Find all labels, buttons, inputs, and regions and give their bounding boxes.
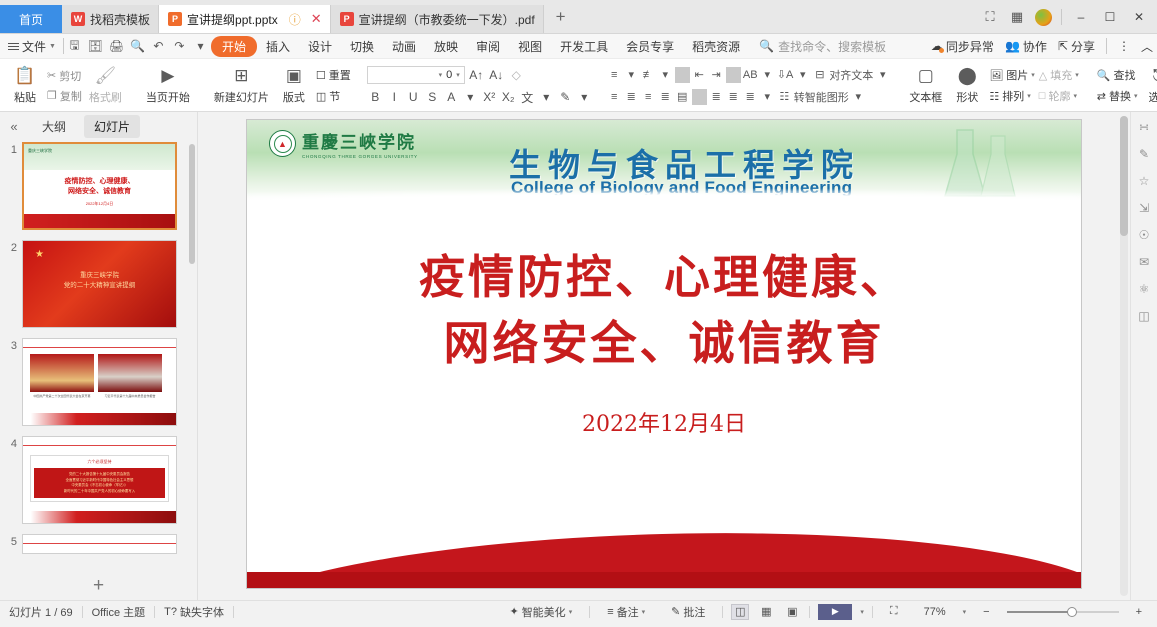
fill-button[interactable]: △ 填充 ▾	[1037, 67, 1081, 83]
right-sidebar: ∺ ✎ ☆ ⇲ ☉ ✉ ⚛ ◫	[1130, 112, 1157, 600]
wps-docer-icon: W	[71, 12, 85, 26]
ribbon-group-editing: 🔍 查找 ⇄ 替换 ▾ ⎋ 选择	[1090, 59, 1157, 112]
replace-label: 替换	[1109, 88, 1131, 104]
slide-header-banner: ▲ 重慶三峽学院 CHONGQING THREE GORGES UNIVERSI…	[247, 120, 1081, 202]
pdf-file-icon: P	[340, 12, 354, 26]
outline-icon: □	[1039, 90, 1046, 102]
divider	[872, 606, 873, 618]
tab-outline[interactable]: 大纲	[32, 115, 76, 138]
thumbnail-slide-5[interactable]	[22, 534, 177, 554]
clipboard-secondary: ✂ 剪切 ❐ 复制	[45, 61, 84, 110]
reset-label: 重置	[329, 67, 351, 83]
menu-bar: 文件 ▼ 🖫 🗄 🖨 🔍 ↶ ↷ ▾ 开始 插入 设计 切换 动画 放映 审阅 …	[0, 34, 1157, 59]
new-tab-button[interactable]: +	[544, 3, 578, 33]
strikethrough-button[interactable]: S	[424, 90, 441, 104]
divider	[692, 89, 707, 105]
connector-icon[interactable]: ∺	[1139, 120, 1149, 134]
thumb-footer-band	[24, 214, 175, 228]
thumbnail-number: 3	[0, 338, 22, 352]
arrange-label: 排列	[1002, 88, 1024, 104]
char-border-button[interactable]: A	[443, 90, 460, 104]
layout-icon: ▣	[286, 66, 302, 86]
zoom-fill	[1007, 611, 1073, 613]
zoom-track[interactable]	[1007, 611, 1119, 613]
logo-emblem-icon: ▲	[269, 130, 296, 157]
copy-icon: ❐	[47, 89, 57, 102]
close-window-icon[interactable]: ✕	[1129, 10, 1149, 24]
collapse-ribbon-icon[interactable]: ︿	[1141, 38, 1153, 55]
thumbnail-slide-4[interactable]: 六个必须坚持 党的二十大报告第十九届中央委员会报告 全面贯彻习近平新时代中国特色…	[22, 436, 177, 524]
tab-slides[interactable]: 幻灯片	[84, 115, 140, 138]
thumb-heading: 六个必须坚持	[34, 459, 165, 465]
divider	[1061, 9, 1062, 25]
status-bar: 幻灯片 1 / 69 Office 主题 T? 缺失字体 ✦ 智能美化 ▾ ≡ …	[0, 600, 1157, 622]
missing-font-button[interactable]: T? 缺失字体	[155, 604, 233, 620]
more-options-icon[interactable]: ⋮	[1118, 39, 1130, 53]
chevron-down-icon[interactable]: ▾	[462, 90, 479, 104]
print-preview-icon[interactable]: 🔍	[127, 39, 148, 53]
comments-label: 批注	[683, 604, 705, 620]
replace-button[interactable]: ⇄ 替换 ▾	[1095, 88, 1140, 104]
search-placeholder: 查找命令、搜索模板	[778, 38, 886, 55]
format-painter-label: 格式刷	[89, 89, 122, 105]
dual-screen-icon[interactable]: ⛶	[981, 9, 999, 25]
align-text-label[interactable]: 对齐文本	[829, 67, 873, 83]
thumb-footer-band	[23, 511, 176, 523]
thumbnail-number: 1	[0, 142, 22, 156]
shapes-label: 形状	[956, 89, 978, 105]
ribbon-tab-design[interactable]: 设计	[299, 36, 341, 57]
thumb-top-bar	[23, 339, 176, 348]
list-item[interactable]: 1 重庆三峡学院 疫情防控、心理健康、 网络安全、诚信教育 2022年12月4日	[0, 142, 197, 230]
notes-icon: ≡	[607, 606, 613, 618]
distribute-button[interactable]: ▤	[675, 90, 690, 103]
current-slide-canvas[interactable]: ▲ 重慶三峽学院 CHONGQING THREE GORGES UNIVERSI…	[246, 119, 1082, 589]
save-as-icon[interactable]: 🗄	[85, 39, 106, 53]
slides-secondary: ☐ 重置 ◫ 节	[314, 61, 353, 110]
thumb-list-item: 新时代的二十年中国共产党人的初心使命要写入	[37, 489, 162, 495]
line-spacing-1-button[interactable]: ≣	[709, 90, 724, 103]
smart-art-label[interactable]: 转智能图形	[794, 89, 849, 105]
text-direction-button[interactable]: AB	[743, 69, 758, 81]
ribbon-group-drawing: ▢ 文本框 ⬤ 形状 🖼 图片 ▾ ☷ 排列 ▾ △ 填充 ▾	[899, 59, 1085, 112]
picture-button[interactable]: 🖼 图片 ▾	[987, 67, 1036, 83]
superscript-button[interactable]: X²	[481, 90, 498, 104]
shrink-font-icon[interactable]: A↓	[488, 68, 505, 82]
thumb-title-line1: 疫情防控、心理健康、	[24, 177, 175, 187]
ribbon-tab-member[interactable]: 会员专享	[617, 36, 683, 57]
warning-icon[interactable]: ⓘ	[289, 11, 301, 28]
divider	[1106, 38, 1107, 54]
user-avatar[interactable]	[1035, 9, 1052, 26]
line-spacing-2-button[interactable]: ≣	[726, 90, 741, 103]
chevron-down-icon[interactable]: ▾	[538, 90, 555, 104]
chevron-down-icon[interactable]: ▾	[851, 90, 866, 103]
zoom-in-button[interactable]: +	[1127, 606, 1151, 618]
decrease-indent-button[interactable]: ⇤	[692, 68, 707, 81]
find-button[interactable]: 🔍 查找	[1095, 67, 1140, 83]
ribbon-tab-slideshow[interactable]: 放映	[425, 36, 467, 57]
paragraph-row-top: ≡ ▾ ≢ ▾ ⇤ ⇥ AB ▾ ⇩A ▾ ⊟ 对齐文本 ▾	[607, 67, 891, 83]
chevron-down-icon: ▾	[1027, 92, 1031, 100]
thumbnail-number: 4	[0, 436, 22, 450]
chevron-down-icon[interactable]: ▾	[795, 68, 810, 81]
tab-pdf-document[interactable]: P 宣讲提纲（市教委统一下发）.pdf	[331, 5, 544, 33]
bullets-button[interactable]: ≡	[607, 69, 622, 81]
search-icon: 🔍	[759, 39, 774, 53]
tab-presentation-pptx[interactable]: P 宣讲提纲ppt.pptx ⓘ ✕	[159, 5, 331, 33]
slide-footer-decoration	[247, 528, 1081, 588]
font-size-value: 0	[446, 69, 452, 81]
clear-format-icon[interactable]: ◇	[508, 68, 525, 82]
section-button[interactable]: ◫ 节	[314, 88, 353, 104]
paintbrush-icon: 🖌	[95, 66, 117, 86]
thumbnail-slide-1[interactable]: 重庆三峡学院 疫情防控、心理健康、 网络安全、诚信教育 2022年12月4日	[22, 142, 177, 230]
thumbnail-scrollbar[interactable]	[189, 144, 195, 264]
chevron-down-icon: ▼	[49, 43, 56, 50]
divider	[809, 606, 810, 618]
view-slide-sorter-button[interactable]: ▦	[757, 604, 775, 620]
clipboard-icon: 📋	[14, 66, 35, 86]
university-name-cn: 重慶三峽学院	[302, 128, 418, 153]
scissors-icon: ✂	[47, 69, 56, 82]
justify-button[interactable]: ≣	[658, 90, 673, 103]
browser-tab-bar: 首页 W 找稻壳模板 P 宣讲提纲ppt.pptx ⓘ ✕ P 宣讲提纲（市教委…	[0, 0, 1157, 34]
section-label: 节	[329, 88, 340, 104]
status-right-controls: ✦ 智能美化 ▾ ≡ 备注 ▾ ✎ 批注 ◫ ▦ ▣ ▶ ▾ ⛶ 77% ▾ −	[500, 604, 1151, 620]
chevron-down-icon[interactable]: ▾	[860, 608, 864, 616]
reset-button[interactable]: ☐ 重置	[314, 67, 353, 83]
ribbon-tab-transition[interactable]: 切换	[341, 36, 383, 57]
zoom-slider[interactable]	[1007, 611, 1119, 613]
zoom-handle[interactable]	[1067, 607, 1077, 617]
picture-icon: 🖼	[989, 69, 1003, 82]
numbering-button[interactable]: ≢	[641, 69, 656, 81]
save-icon[interactable]: 🖫	[64, 36, 85, 57]
font-warning-icon: T?	[164, 606, 177, 618]
party-emblem-icon: ★	[35, 249, 49, 261]
thumb-text-block: 重庆三峡学院 党的二十大精神宣讲提纲	[23, 271, 176, 291]
chevron-down-icon: ▾	[1031, 71, 1035, 79]
fill-label: 填充	[1050, 67, 1072, 83]
paragraph-row-bottom: ≡ ≣ ≡ ≣ ▤ ≣ ≣ ≣ ▾ ☷ 转智能图形 ▾	[607, 89, 891, 105]
layout-button[interactable]: ▣ 版式	[274, 61, 314, 110]
underline-button[interactable]: U	[405, 90, 422, 104]
divider	[722, 606, 723, 618]
ppt-file-icon: P	[168, 12, 182, 26]
beautify-button[interactable]: ✦ 智能美化 ▾	[500, 604, 581, 620]
beaker-graphic-icon	[939, 126, 1023, 200]
footer-band	[247, 572, 1081, 588]
paste-button[interactable]: 📋 粘贴	[5, 61, 45, 110]
thumb-line-2: 党的二十大精神宣讲提纲	[23, 281, 176, 291]
divider	[233, 606, 234, 618]
italic-button[interactable]: I	[386, 90, 403, 104]
thumb-photo-congress	[30, 354, 94, 392]
chevron-down-icon[interactable]: ▾	[875, 68, 890, 81]
divider	[589, 606, 590, 618]
smart-art-icon[interactable]: ☷	[777, 90, 792, 103]
thumbnail-number: 5	[0, 534, 22, 548]
slide-date[interactable]: 2022年12月4日	[247, 406, 1081, 438]
university-name-en: CHONGQING THREE GORGES UNIVERSITY	[302, 154, 418, 159]
home-tab[interactable]: 首页	[0, 5, 62, 33]
pen-icon[interactable]: ✎	[1139, 147, 1149, 161]
align-left-button[interactable]: ≡	[607, 91, 622, 103]
feedback-icon[interactable]: ✉	[1139, 255, 1149, 269]
logo-text-block: 重慶三峽学院 CHONGQING THREE GORGES UNIVERSITY	[302, 128, 418, 159]
search-icon: 🔍	[1097, 69, 1111, 82]
slide-thumbnail-panel: « 大纲 幻灯片 1 重庆三峡学院 疫情防控、心理健康、 网络安全、诚信教育 2…	[0, 112, 198, 600]
college-name-en: College of Biology and Food Engineering	[511, 178, 852, 198]
play-circle-icon: ▶	[161, 66, 174, 86]
ribbon-tab-insert[interactable]: 插入	[257, 36, 299, 57]
fit-to-window-button[interactable]: ⛶	[881, 605, 907, 618]
chevron-down-icon: ▾	[456, 71, 460, 79]
increase-indent-button[interactable]: ⇥	[709, 68, 724, 81]
highlight-color-button[interactable]: ✎	[557, 90, 574, 104]
new-slide-label: 新建幻灯片	[214, 89, 269, 105]
tab-docer-templates[interactable]: W 找稻壳模板	[62, 5, 159, 33]
thumb-content-box: 六个必须坚持 党的二十大报告第十九届中央委员会报告 全面贯彻习近平新时代中国特色…	[30, 455, 169, 502]
chevron-down-icon: ▾	[569, 608, 573, 616]
share-icon: ⇱	[1058, 39, 1068, 53]
slide-title-line1[interactable]: 疫情防控、心理健康、	[247, 244, 1081, 310]
minimize-icon[interactable]: –	[1071, 10, 1091, 24]
reset-icon: ☐	[316, 69, 326, 82]
divider	[726, 67, 741, 83]
chevron-down-icon: ▾	[1075, 71, 1079, 79]
paragraph-grid: ≡ ▾ ≢ ▾ ⇤ ⇥ AB ▾ ⇩A ▾ ⊟ 对齐文本 ▾ ≡ ≣ ≡ ≣	[607, 61, 891, 110]
zoom-out-button[interactable]: −	[974, 606, 998, 618]
play-slideshow-button[interactable]: ▶	[818, 604, 852, 620]
cloud-icon: ☁	[931, 39, 943, 53]
thumb-header: 重庆三峡学院	[24, 144, 175, 170]
font-size-caret: ▾	[439, 71, 443, 79]
align-right-button[interactable]: ≡	[641, 91, 656, 103]
collab-label: 协作	[1023, 38, 1047, 55]
thumb-date: 2022年12月4日	[24, 201, 175, 207]
maximize-icon[interactable]: ☐	[1100, 10, 1120, 24]
sync-status-button[interactable]: ☁ 同步异常	[931, 38, 994, 55]
ribbon-group-start-show: ▶ 当页开始	[136, 59, 200, 112]
list-item[interactable]: 4 六个必须坚持 党的二十大报告第十九届中央委员会报告 全面贯彻习近平新时代中国…	[0, 436, 197, 524]
thumb-image-row: 中国共产党第二十次全国代表大会在京开幕 习近平代表第十九届中央委员会作报告	[23, 348, 176, 398]
replace-icon: ⇄	[1097, 90, 1106, 103]
find-label: 查找	[1113, 67, 1135, 83]
chevron-down-icon[interactable]: ▾	[963, 608, 967, 616]
theme-label[interactable]: Office 主题	[83, 604, 155, 620]
select-cursor-icon: ⎋	[1153, 66, 1157, 86]
share-button[interactable]: ⇱ 分享	[1058, 38, 1095, 55]
notes-label: 备注	[617, 604, 639, 620]
collapse-panel-icon[interactable]: «	[4, 119, 24, 134]
comment-icon: ✎	[671, 605, 680, 618]
font-size-input[interactable]: ▾ 0 ▾	[367, 66, 465, 84]
menubar-right-controls: ☁ 同步异常 👥 协作 ⇱ 分享 ⋮ ︿	[931, 38, 1153, 55]
thumbnail-list[interactable]: 1 重庆三峡学院 疫情防控、心理健康、 网络安全、诚信教育 2022年12月4日…	[0, 140, 197, 572]
new-slide-icon: ⊞	[234, 66, 248, 86]
list-item[interactable]: 2 ★ 重庆三峡学院 党的二十大精神宣讲提纲	[0, 240, 197, 328]
star-icon[interactable]: ☆	[1139, 174, 1150, 188]
copy-button[interactable]: ❐ 复制	[45, 88, 84, 104]
section-icon: ◫	[316, 90, 326, 103]
text-box-label: 文本框	[909, 89, 942, 105]
ribbon-tab-developer[interactable]: 开发工具	[551, 36, 617, 57]
ribbon-tab-review[interactable]: 审阅	[467, 36, 509, 57]
chevron-down-icon[interactable]: ▾	[624, 68, 639, 81]
shield-icon[interactable]: ⚛	[1139, 282, 1150, 296]
outline-button[interactable]: □ 轮廓 ▾	[1037, 88, 1081, 104]
align-text-icon[interactable]: ⊟	[812, 68, 827, 81]
logo-inner-mark: ▲	[274, 135, 292, 153]
align-center-button[interactable]: ≣	[624, 90, 639, 103]
edit-area-scrollbar[interactable]	[1120, 116, 1128, 596]
chevron-down-icon[interactable]: ▾	[760, 68, 775, 81]
arrange-icon: ☷	[989, 90, 999, 103]
line-spacing-3-button[interactable]: ≣	[743, 90, 758, 103]
search-box[interactable]: 🔍 查找命令、搜索模板	[759, 38, 886, 55]
tab-label: 找稻壳模板	[90, 11, 150, 28]
chevron-down-icon: ▾	[642, 608, 646, 616]
missing-font-label: 缺失字体	[180, 604, 224, 620]
ribbon-group-slides: ⊞ 新建幻灯片 ▣ 版式 ☐ 重置 ◫ 节	[204, 59, 358, 112]
thumb-line-1: 重庆三峡学院	[23, 271, 176, 281]
thumb-title-line2: 网络安全、诚信教育	[24, 187, 175, 197]
view-normal-button[interactable]: ◫	[731, 604, 749, 620]
workspace: « 大纲 幻灯片 1 重庆三峡学院 疫情防控、心理健康、 网络安全、诚信教育 2…	[0, 112, 1157, 600]
drawing-secondary-a: 🖼 图片 ▾ ☷ 排列 ▾	[987, 61, 1036, 110]
shapes-button[interactable]: ⬤ 形状	[947, 61, 987, 110]
editing-buttons: 🔍 查找 ⇄ 替换 ▾	[1095, 61, 1140, 110]
people-icon: 👥	[1005, 39, 1020, 53]
panel-icon[interactable]: ◫	[1138, 309, 1149, 323]
select-button[interactable]: ⎋ 选择	[1140, 61, 1157, 110]
collaborate-button[interactable]: 👥 协作	[1005, 38, 1047, 55]
panel-header: « 大纲 幻灯片	[0, 112, 197, 140]
new-slide-button[interactable]: ⊞ 新建幻灯片	[209, 61, 274, 110]
notes-button[interactable]: ≡ 备注 ▾	[598, 604, 654, 620]
text-box-icon: ▢	[918, 66, 934, 86]
chevron-down-icon: ▾	[1134, 92, 1138, 100]
divider	[675, 67, 690, 83]
arrange-button[interactable]: ☷ 排列 ▾	[987, 88, 1036, 104]
shapes-icon: ⬤	[958, 66, 977, 86]
add-slide-button[interactable]: +	[0, 572, 197, 600]
slide-edit-area[interactable]: ▲ 重慶三峽学院 CHONGQING THREE GORGES UNIVERSI…	[198, 112, 1130, 600]
tabbar-right-controls: ⛶ ▦ – ☐ ✕	[981, 0, 1157, 34]
sync-label: 同步异常	[946, 38, 994, 55]
thumb-logo-label: 重庆三峡学院	[28, 148, 52, 154]
ribbon-toolbar: 📋 粘贴 ✂ 剪切 ❐ 复制 🖌 格式刷 ▶ 当页开始 ⊞ 新建幻灯	[0, 59, 1157, 112]
customize-toolbar-icon[interactable]: ▾	[190, 39, 211, 53]
text-box-button[interactable]: ▢ 文本框	[904, 61, 947, 110]
redo-icon[interactable]: ↷	[169, 39, 190, 53]
close-icon[interactable]: ✕	[311, 11, 322, 27]
chevron-down-icon: ▾	[1073, 92, 1077, 100]
ribbon-tab-animation[interactable]: 动画	[383, 36, 425, 57]
beautify-label: 智能美化	[522, 604, 566, 620]
thumbnail-number: 2	[0, 240, 22, 254]
ribbon-tab-start[interactable]: 开始	[211, 36, 257, 57]
grow-font-icon[interactable]: A↑	[468, 68, 485, 82]
grid-icon[interactable]: ▦	[1008, 9, 1026, 25]
ribbon-group-paragraph: ≡ ▾ ≢ ▾ ⇤ ⇥ AB ▾ ⇩A ▾ ⊟ 对齐文本 ▾ ≡ ≣ ≡ ≣	[602, 59, 896, 112]
thumb-image-left-wrap: 中国共产党第二十次全国代表大会在京开幕	[30, 354, 94, 398]
thumb-footer-band	[23, 413, 176, 425]
print-icon[interactable]: 🖨	[106, 39, 127, 53]
ribbon-tab-view[interactable]: 视图	[509, 36, 551, 57]
cut-label: 剪切	[59, 68, 81, 84]
outline-label: 轮廓	[1048, 88, 1070, 104]
file-menu-label: 文件	[22, 38, 46, 55]
font-row-bottom: B I U S A ▾ X² X₂ 文 ▾ ✎ ▾	[367, 89, 593, 106]
picture-label: 图片	[1006, 67, 1028, 83]
chevron-down-icon[interactable]: ▾	[760, 90, 775, 103]
pinyin-guide-button[interactable]: 文	[519, 89, 536, 106]
slide-title-line2[interactable]: 网络安全、诚信教育	[247, 310, 1081, 376]
fill-icon: △	[1039, 69, 1047, 82]
drawing-secondary-b: △ 填充 ▾ □ 轮廓 ▾	[1037, 61, 1081, 110]
share-label: 分享	[1071, 38, 1095, 55]
tab-label: 宣讲提纲（市教委统一下发）.pdf	[359, 11, 535, 28]
thumb-caption-right: 习近平代表第十九届中央委员会作报告	[98, 394, 162, 398]
start-from-current-button[interactable]: ▶ 当页开始	[141, 61, 195, 110]
copy-label: 复制	[60, 88, 82, 104]
magic-wand-icon: ✦	[509, 605, 518, 618]
subscript-button[interactable]: X₂	[500, 90, 517, 104]
chevron-down-icon[interactable]: ▾	[658, 68, 673, 81]
view-reading-button[interactable]: ▣	[783, 604, 801, 620]
thumb-caption-left: 中国共产党第二十次全国代表大会在京开幕	[30, 394, 94, 398]
ribbon-group-font: ▾ 0 ▾ A↑ A↓ ◇ B I U S A ▾ X² X₂ 文 ▾ ✎	[362, 59, 598, 112]
thumbnail-slide-3[interactable]: 中国共产党第二十次全国代表大会在京开幕 习近平代表第十九届中央委员会作报告	[22, 338, 177, 426]
comments-button[interactable]: ✎ 批注	[662, 604, 714, 620]
hamburger-icon	[8, 41, 19, 52]
file-menu-button[interactable]: 文件 ▼	[0, 38, 63, 55]
font-row-top: ▾ 0 ▾ A↑ A↓ ◇	[367, 66, 593, 84]
help-icon[interactable]: ☉	[1139, 228, 1150, 242]
slide-count-label: 幻灯片 1 / 69	[0, 604, 82, 620]
char-spacing-button[interactable]: ⇩A	[777, 68, 794, 81]
college-name-cn: 生物与食品工程学院	[509, 140, 860, 186]
undo-icon[interactable]: ↶	[148, 39, 169, 53]
ribbon-tab-docer[interactable]: 稻壳资源	[683, 36, 749, 57]
list-item[interactable]: 3 中国共产党第二十次全国代表大会在京开幕 习近平代表第十九届中央委员会作报告	[0, 338, 197, 426]
select-label: 选择	[1149, 89, 1157, 105]
list-item[interactable]: 5	[0, 534, 197, 554]
thumb-image-right-wrap: 习近平代表第十九届中央委员会作报告	[98, 354, 162, 398]
start-show-label: 当页开始	[146, 89, 190, 105]
thumb-red-list: 党的二十大报告第十九届中央委员会报告 全面贯彻习近平新时代中国特色社会主义思想 …	[34, 468, 165, 498]
thumbnail-slide-2[interactable]: ★ 重庆三峡学院 党的二十大精神宣讲提纲	[22, 240, 177, 328]
tab-label: 宣讲提纲ppt.pptx	[187, 11, 278, 28]
ribbon-group-clipboard: 📋 粘贴 ✂ 剪切 ❐ 复制 🖌 格式刷	[0, 59, 132, 112]
thumb-top-bar	[23, 535, 176, 544]
cut-button[interactable]: ✂ 剪切	[45, 68, 84, 84]
bold-button[interactable]: B	[367, 90, 384, 104]
layout-label: 版式	[283, 89, 305, 105]
paste-label: 粘贴	[14, 89, 36, 105]
chevron-down-icon[interactable]: ▾	[576, 90, 593, 104]
format-painter-button[interactable]: 🖌 格式刷	[84, 61, 127, 110]
home-tab-label: 首页	[19, 11, 43, 28]
thumb-top-bar	[23, 437, 176, 446]
thumb-photo-speaker	[98, 354, 162, 392]
university-logo: ▲ 重慶三峽学院 CHONGQING THREE GORGES UNIVERSI…	[269, 128, 418, 159]
zoom-level-label[interactable]: 77%	[915, 606, 955, 618]
export-icon[interactable]: ⇲	[1139, 201, 1149, 215]
